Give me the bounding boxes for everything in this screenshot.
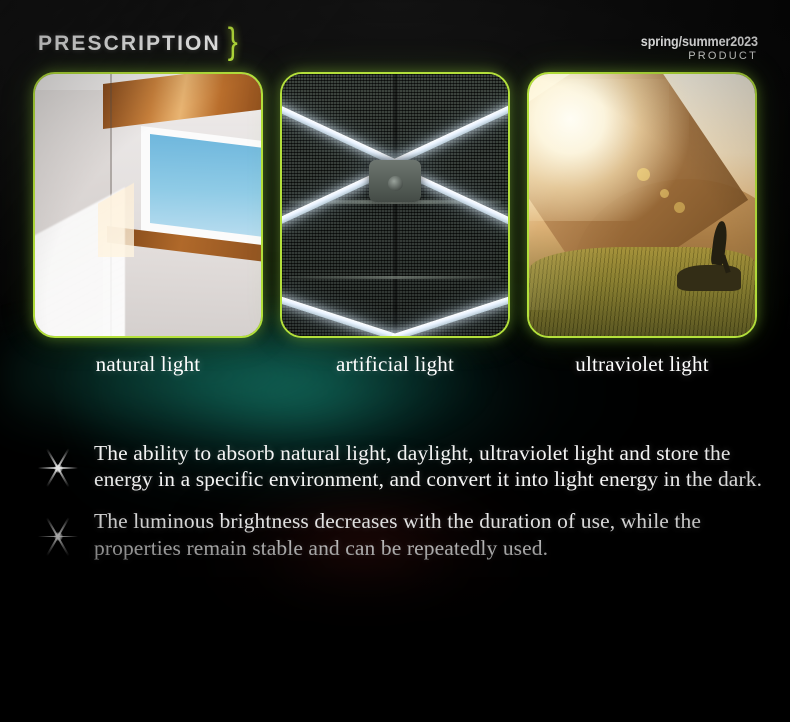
feature-text-1: The ability to absorb natural light, day…: [94, 440, 764, 492]
image-card-ultraviolet-light[interactable]: [527, 72, 757, 338]
image-card-row: [33, 72, 757, 338]
brand-lockup: PRESCRIPTION }: [38, 29, 238, 56]
interior-room-window-daylight-photo: [35, 74, 261, 336]
caption-natural-light: natural light: [33, 352, 263, 392]
caption-row: natural light artificial light ultraviol…: [33, 352, 757, 392]
caption-artificial-light: artificial light: [280, 352, 510, 392]
page-title: PRESCRIPTION: [38, 32, 221, 56]
season-label: spring/summer2023: [641, 34, 758, 49]
season-tag: spring/summer2023 PRODUCT: [632, 34, 758, 62]
sparkle-star-icon: [34, 444, 82, 492]
background-bottom-fade: [0, 512, 790, 722]
caption-ultraviolet-light: ultraviolet light: [527, 352, 757, 392]
mountain-sunrise-hiker-silhouette-photo: [529, 74, 755, 336]
curly-brace-icon: }: [228, 27, 238, 57]
product-label: PRODUCT: [632, 50, 758, 62]
poster-canvas: PRESCRIPTION } spring/summer2023 PRODUCT: [0, 0, 790, 722]
industrial-ceiling-fluorescent-tubes-photo: [282, 74, 508, 336]
list-item: The ability to absorb natural light, day…: [34, 440, 764, 492]
image-card-natural-light[interactable]: [33, 72, 263, 338]
header: PRESCRIPTION } spring/summer2023 PRODUCT: [0, 0, 790, 70]
image-card-artificial-light[interactable]: [280, 72, 510, 338]
